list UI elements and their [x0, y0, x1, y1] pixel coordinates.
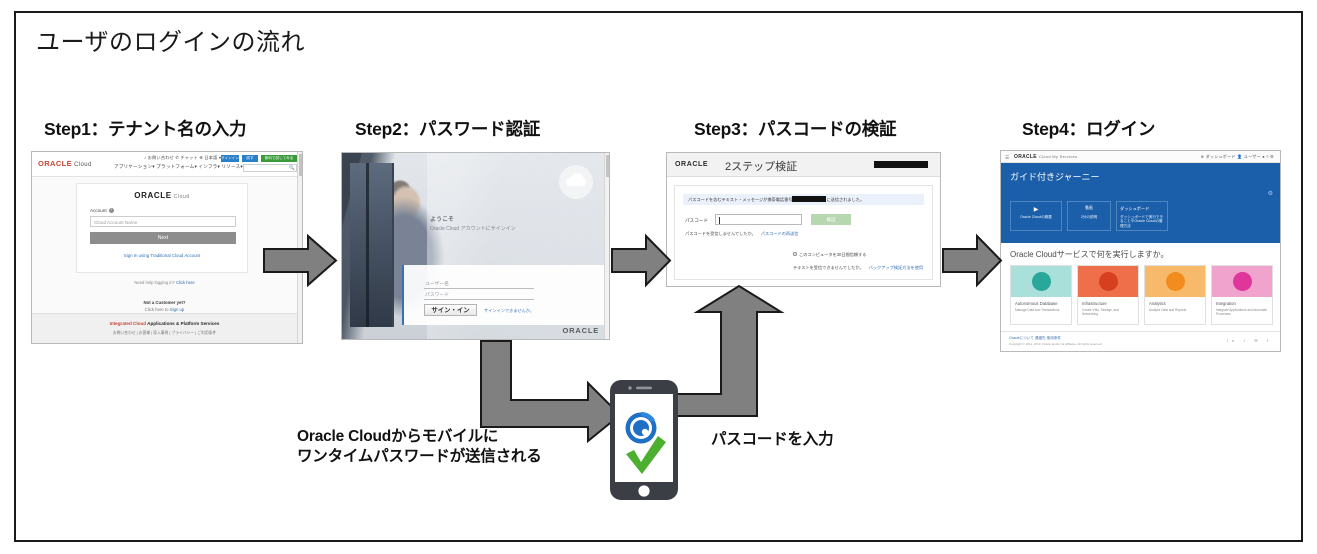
nav-free-tier-button[interactable]: 無料で試してみる	[261, 155, 297, 162]
arrow-step1-to-step2	[262, 233, 338, 288]
step-label-2: Step2：パスワード認証	[355, 116, 540, 141]
dashboard-icon-label: ダッシュボード	[1120, 206, 1167, 212]
arrow-phone-to-step3	[669, 284, 789, 419]
signup-line: Click here to Sign up	[145, 307, 185, 312]
alt-method-link[interactable]: バックアップ検証方法を使用	[869, 265, 923, 270]
card-oracle-logo: ORACLECloud	[77, 191, 247, 200]
login-card: ORACLECloud Account? Cloud Account Name …	[76, 183, 248, 273]
footer-links[interactable]: Oracleについて 連絡先 使用条件	[1009, 336, 1061, 341]
resend-row: パスコードを受信しませんでしたか。パスコードの再送信	[685, 231, 798, 237]
cloud-account-name-input[interactable]: Cloud Account Name	[90, 216, 236, 227]
callout-otp-line1: Oracle Cloudからモバイルに	[297, 427, 542, 447]
step4-screenshot[interactable]: ☰ ORACLECloud My Services ⊕ ダッシュボード 👤 ユー…	[1000, 150, 1281, 352]
alt-text: テキストを受信できませんでしたか。	[793, 265, 864, 270]
not-customer-block: Not a Customer yet? Click here to Sign u…	[32, 299, 297, 313]
card-band	[1212, 266, 1272, 297]
mobile-phone-illustration	[608, 378, 680, 502]
dashboard-footer: Oracleについて 連絡先 使用条件 Copyright © 2011, 20…	[1001, 331, 1280, 351]
callout-otp-sent: Oracle Cloudからモバイルに ワンタイムパスワードが送信される	[297, 427, 542, 467]
nav-search-input[interactable]	[243, 164, 297, 172]
journey-tile-2-label: 2分の説明	[1071, 215, 1107, 219]
resend-text: パスコードを受信しませんでしたか。	[685, 231, 756, 236]
card-title: Integration	[1216, 301, 1236, 306]
redacted-phone-block	[792, 196, 826, 202]
arrow-step3-to-step4	[941, 233, 1003, 288]
oracle-top-nav: ORACLECloud ♪ お問い合わせ ✆ チャット ⊕ 日本語 ▾ アプリケ…	[32, 152, 297, 177]
card-logo-text: ORACLE	[134, 191, 171, 200]
oracle-logo-sub: Cloud My Services	[1039, 154, 1077, 159]
username-input[interactable]: ユーザー名	[424, 280, 534, 289]
card-band	[1078, 266, 1138, 297]
nav-utility-links[interactable]: ♪ お問い合わせ ✆ チャット ⊕ 日本語 ▾	[144, 155, 221, 161]
trust-device-row[interactable]: このコンピュータを30日間信頼する	[793, 252, 866, 258]
footer-links[interactable]: お問い合わせ | お客様 | 導入事例 | プライバシー | ご利用条件	[32, 331, 297, 336]
service-card-analytics[interactable]: Analytics Analyze Data and Reports	[1144, 265, 1206, 325]
gear-icon[interactable]: ⚙	[1268, 190, 1273, 197]
hero-sub-text: Oracle Cloud アカウントにサインイン	[430, 226, 516, 232]
radio-icon[interactable]	[793, 252, 797, 256]
hamburger-menu-icon[interactable]: ☰	[1005, 155, 1009, 161]
passcode-label: パスコード	[685, 218, 708, 224]
oracle-logo-text: ORACLE	[38, 159, 72, 168]
step-label-1: Step1：テナント名の入力	[44, 116, 246, 141]
sms-sent-banner: パスコードを含むテキスト・メッセージが携帯電話番号に送信されました。	[683, 194, 924, 205]
banner-pre-text: パスコードを含むテキスト・メッセージが携帯電話番号	[688, 197, 792, 202]
account-label-text: Account	[90, 208, 107, 213]
footer-copyright: Copyright © 2011, 2019, Oracle and/or it…	[1009, 342, 1102, 346]
card-title: Analytics	[1149, 301, 1166, 306]
nav-trial-button[interactable]: 試す	[242, 155, 258, 162]
banner-post-text: に送信されました。	[826, 197, 864, 202]
step-label-4: Step4：ログイン	[1022, 116, 1155, 141]
card-desc: Manage Data and Transactions	[1015, 308, 1068, 312]
oracle-logo-sub: Cloud	[74, 162, 92, 168]
step2-screenshot[interactable]: ようこそ Oracle Cloud アカウントにサインイン ユーザー名 パスワー…	[341, 152, 610, 340]
services-question: Oracle Cloudサービスで何を実行しますか。	[1010, 249, 1169, 260]
footer-tagline: Integrated Cloud Applications & Platform…	[32, 321, 297, 326]
card-band	[1011, 266, 1071, 297]
not-customer-text: Not a Customer yet?	[32, 299, 297, 306]
page-footer: Integrated Cloud Applications & Platform…	[32, 313, 297, 343]
journey-tile-1-label: Oracle Cloudの概要	[1014, 215, 1058, 219]
service-card-autonomous-database[interactable]: Autonomous Database Manage Data and Tran…	[1010, 265, 1072, 325]
nav-signin-button[interactable]: サインイン	[221, 155, 239, 162]
page-title: 2ステップ検証	[725, 158, 797, 174]
card-title: Autonomous Database	[1015, 301, 1058, 306]
scrollbar[interactable]	[604, 153, 609, 339]
verify-button[interactable]: 検証	[811, 214, 851, 225]
oracle-logo: ORACLECloud My Services	[1014, 154, 1077, 160]
oracle-brand-mark: ORACLE	[563, 326, 599, 335]
service-card-infrastructure[interactable]: Infrastructure Create VMs, Storage, and …	[1077, 265, 1139, 325]
step-label-3: Step3：パスコードの検証	[694, 116, 896, 141]
chart-icon	[1166, 272, 1185, 291]
journey-tile-3[interactable]: ダッシュボード ダッシュボードで実行できることやOracle Cloudの管理方…	[1116, 201, 1168, 231]
journey-tile-3-label: ダッシュボードで実行できることやOracle Cloudの管理方法	[1120, 215, 1164, 228]
oracle-logo-text: ORACLE	[1014, 154, 1037, 160]
resend-link[interactable]: パスコードの再送信	[761, 231, 799, 236]
cannot-signin-link[interactable]: サインインできませんか。	[484, 308, 534, 314]
database-icon	[1032, 272, 1051, 291]
signup-text: Click here to	[145, 307, 170, 312]
redacted-account-block	[874, 161, 928, 168]
oracle-logo: ORACLE	[675, 161, 708, 168]
hero-heading: ようこそ Oracle Cloud アカウントにサインイン	[430, 216, 550, 234]
next-button[interactable]: Next	[90, 232, 236, 244]
cloud-icon	[559, 165, 593, 199]
help-link[interactable]: Click here	[176, 280, 195, 285]
social-icons[interactable]: in ♪ ✉ f	[1227, 338, 1272, 343]
card-title: Infrastructure	[1082, 301, 1107, 306]
verification-panel: パスコードを含むテキスト・メッセージが携帯電話番号に送信されました。 パスコード…	[674, 185, 933, 280]
journey-tile-1[interactable]: ▶ Oracle Cloudの概要	[1010, 201, 1062, 231]
footer-tagline-rest: Applications & Platform Services	[146, 321, 219, 326]
signup-link[interactable]: Sign up	[170, 307, 185, 312]
passcode-input[interactable]	[715, 214, 802, 225]
password-input[interactable]: パスワード	[424, 291, 534, 300]
dashboard-topbar: ☰ ORACLECloud My Services ⊕ ダッシュボード 👤 ユー…	[1001, 151, 1280, 163]
card-desc: Analyze Data and Reports	[1149, 308, 1202, 312]
topbar-actions[interactable]: ⊕ ダッシュボード 👤 ユーザー ♠ ? ⚙	[1201, 154, 1274, 160]
slide-title: ユーザのログインの流れ	[36, 22, 305, 57]
server-icon	[1099, 272, 1118, 291]
arrow-step2-to-step3	[610, 233, 672, 288]
account-label: Account?	[90, 208, 114, 213]
guided-journey-title: ガイド付きジャーニー	[1010, 170, 1100, 183]
card-desc: Integrate Applications and Automate Proc…	[1216, 308, 1269, 317]
service-card-integration[interactable]: Integration Integrate Applications and A…	[1211, 265, 1273, 325]
step3-screenshot[interactable]: ORACLE 2ステップ検証 パスコードを含むテキスト・メッセージが携帯電話番号…	[666, 152, 941, 287]
card-band	[1145, 266, 1205, 297]
trust-device-label: このコンピュータを30日間信頼する	[799, 252, 866, 257]
footer-tagline-highlight: Integrated Cloud	[110, 321, 147, 326]
journey-tile-2[interactable]: 動画 2分の説明	[1067, 201, 1111, 231]
verification-header: ORACLE 2ステップ検証	[667, 153, 940, 177]
hero-heading-text: ようこそ	[430, 216, 550, 225]
callout-otp-line2: ワンタイムパスワードが送信される	[297, 447, 542, 467]
signin-form: ユーザー名 パスワード サイン・イン サインインできませんか。	[402, 265, 606, 325]
callout-enter-passcode: パスコードを入力	[711, 430, 833, 450]
slide-root: ユーザのログインの流れ Step1：テナント名の入力 Step2：パスワード認証…	[0, 0, 1317, 554]
login-help-text: Need help logging in? Click here	[32, 280, 297, 285]
window-frame-decor	[350, 163, 394, 327]
login-page-body: ORACLECloud Account? Cloud Account Name …	[32, 177, 297, 343]
video-icon: 動画	[1068, 206, 1110, 211]
signin-button[interactable]: サイン・イン	[424, 304, 477, 316]
oracle-logo: ORACLECloud	[38, 159, 92, 168]
help-circle-icon[interactable]: ?	[109, 208, 114, 213]
card-desc: Create VMs, Storage, and Networking	[1082, 308, 1135, 317]
integration-icon	[1233, 272, 1252, 291]
nav-main-links[interactable]: アプリケーション▾ プラットフォーム▾ インフラ▾ リソース▾	[114, 164, 243, 170]
card-logo-sub: Cloud	[174, 194, 190, 200]
alternate-method-row: テキストを受信できませんでしたか。バックアップ検証方法を使用	[793, 265, 923, 271]
traditional-account-link[interactable]: Sign In using Traditional Cloud Account	[77, 253, 247, 258]
guided-journey-banner: ガイド付きジャーニー ⚙ ▶ Oracle Cloudの概要 動画 2分の説明 …	[1001, 163, 1280, 243]
play-icon: ▶	[1011, 206, 1061, 213]
help-text: Need help logging in?	[134, 280, 175, 285]
